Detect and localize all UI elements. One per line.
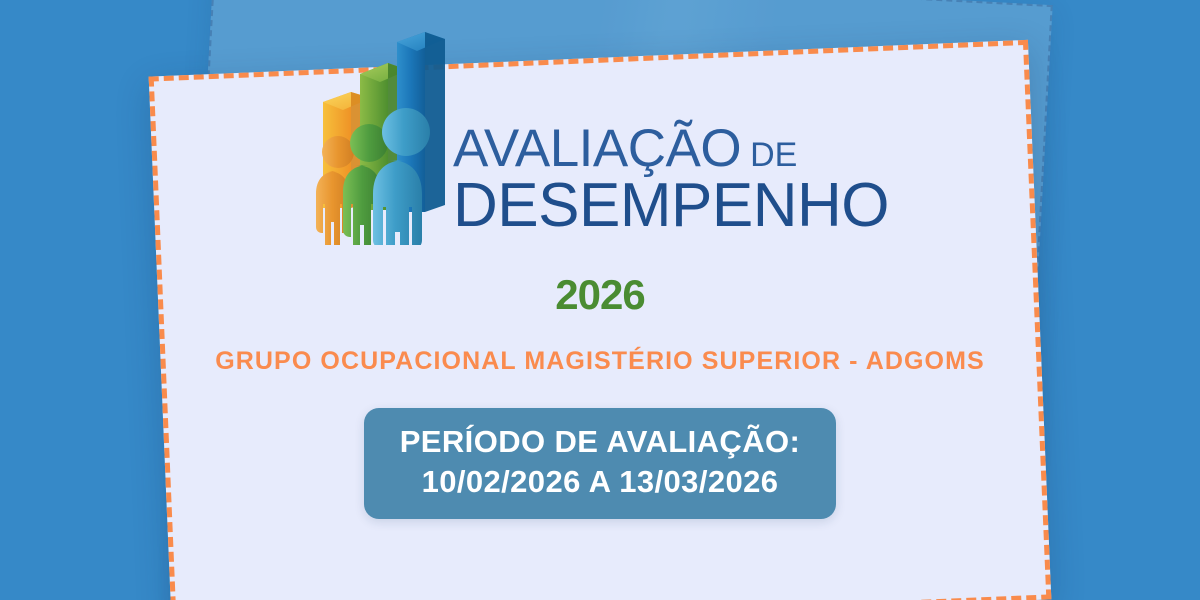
- logo-word-avaliacao: AVALIAÇÃO: [453, 124, 741, 174]
- logo-lockup: AVALIAÇÃO DE DESEMPENHO: [305, 30, 889, 245]
- evaluation-period-range: 10/02/2026 A 13/03/2026: [400, 462, 801, 502]
- logo-word-desempenho: DESEMPENHO: [453, 176, 889, 237]
- occupational-group-subtitle: GRUPO OCUPACIONAL MAGISTÉRIO SUPERIOR - …: [190, 345, 1010, 378]
- logo-wordmark: AVALIAÇÃO DE DESEMPENHO: [453, 124, 889, 245]
- evaluation-period-label: PERÍODO DE AVALIAÇÃO:: [400, 422, 801, 462]
- logo-line-1: AVALIAÇÃO DE: [453, 124, 889, 174]
- poster-content: AVALIAÇÃO DE DESEMPENHO 2026 GRUPO OCUPA…: [0, 0, 1200, 600]
- logo-word-de: DE: [750, 139, 797, 171]
- evaluation-period-badge: PERÍODO DE AVALIAÇÃO: 10/02/2026 A 13/03…: [364, 408, 837, 519]
- bar-chart-people-logo-icon: [305, 30, 455, 245]
- year-label: 2026: [555, 271, 644, 319]
- poster-stage: AVALIAÇÃO DE DESEMPENHO 2026 GRUPO OCUPA…: [0, 0, 1200, 600]
